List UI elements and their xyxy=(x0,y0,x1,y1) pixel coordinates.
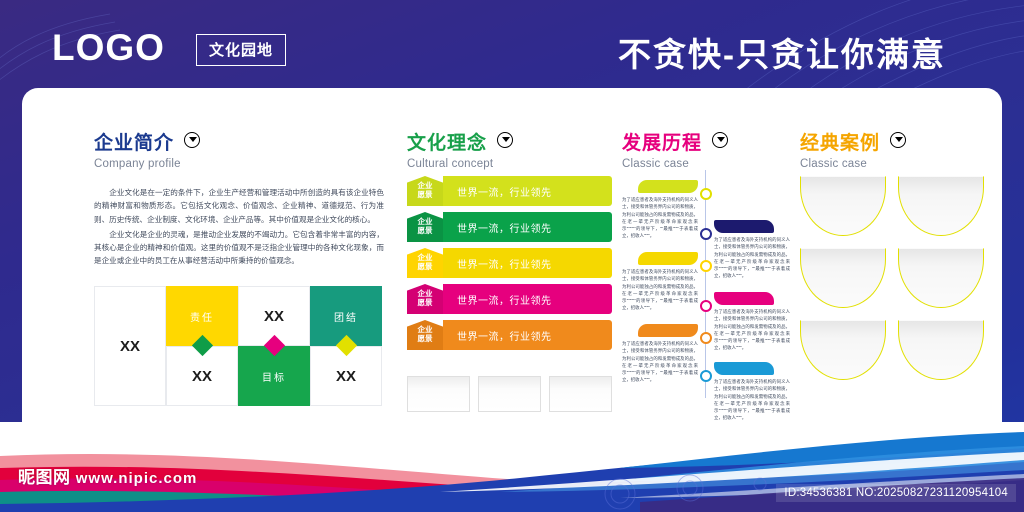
vision-bar: 世界一流，行业领先 xyxy=(443,320,612,350)
content-card: 企业简介 Company profile 企业文化是在一定的条件下，企业生产经营… xyxy=(22,88,1002,438)
vision-bar: 世界一流，行业领先 xyxy=(443,284,612,314)
tagline-badge: 文化园地 xyxy=(196,34,286,66)
section-classic-case: 经典案例 Classic case xyxy=(800,128,975,170)
profile-paragraph: 企业文化是企业的灵魂，是推动企业发展的不竭动力。它包含着非常丰富的内容，其核心是… xyxy=(94,228,384,268)
vision-text: 世界一流，行业领先 xyxy=(457,256,552,271)
timeline-item[interactable]: 为了适应患者及海外支持机构的同义人士，接受和体管务界内公司的和物质，为利公司能独… xyxy=(714,292,790,352)
watermark: 昵图网 www.nipic.com xyxy=(18,463,197,488)
vision-bar: 世界一流，行业领先 xyxy=(443,248,612,278)
image-id-label: ID:34536381 NO:20250827231120954104 xyxy=(776,484,1016,502)
case-image-placeholder[interactable] xyxy=(800,176,886,236)
value-cell-label: 团结 xyxy=(334,309,358,324)
vision-text: 世界一流，行业领先 xyxy=(457,328,552,343)
value-cell-label: XX xyxy=(120,338,140,355)
culture-image-placeholders xyxy=(407,376,612,412)
timeline-ribbon xyxy=(714,362,774,375)
timeline-dot[interactable] xyxy=(700,300,712,312)
value-cell-label: XX xyxy=(192,368,212,385)
timeline-item[interactable]: 为了适应患者及海外支持机构的同义人士，接受和体管务界内公司的和物质，为利公司能独… xyxy=(622,180,698,240)
vision-row[interactable]: 企业 愿景 世界一流，行业领先 xyxy=(407,284,612,314)
value-cell[interactable]: 责任 xyxy=(166,286,238,346)
value-cell[interactable]: XX xyxy=(94,286,166,406)
vision-text: 世界一流，行业领先 xyxy=(457,292,552,307)
timeline-axis xyxy=(705,170,706,398)
timeline-ribbon xyxy=(638,180,698,193)
culture-image-placeholder[interactable] xyxy=(407,376,470,412)
vision-bar: 世界一流，行业领先 xyxy=(443,212,612,242)
vision-row[interactable]: 企业 愿景 世界一流，行业领先 xyxy=(407,176,612,206)
case-image-placeholder[interactable] xyxy=(898,248,984,308)
vision-tag-line: 愿景 xyxy=(418,263,433,272)
culture-image-placeholder[interactable] xyxy=(478,376,541,412)
case-image-placeholder[interactable] xyxy=(898,176,984,236)
timeline-dot[interactable] xyxy=(700,370,712,382)
vision-row[interactable]: 企业 愿景 世界一流，行业领先 xyxy=(407,320,612,350)
cultural-concept-title: 文化理念 xyxy=(407,128,487,155)
company-profile-body: 企业文化是在一定的条件下，企业生产经营和管理活动中所创造的具有该企业特色的精神财… xyxy=(94,186,384,268)
development-history-subtitle: Classic case xyxy=(622,158,787,170)
value-cell-label: XX xyxy=(264,308,284,325)
company-profile-subtitle: Company profile xyxy=(94,158,384,170)
chevron-down-icon[interactable] xyxy=(712,132,728,148)
value-cell-label: 目标 xyxy=(262,369,286,384)
vision-tag: 企业 愿景 xyxy=(407,212,443,242)
chevron-down-icon[interactable] xyxy=(184,132,200,148)
timeline-dot[interactable] xyxy=(700,260,712,272)
culture-image-placeholder[interactable] xyxy=(549,376,612,412)
vision-tag-line: 愿景 xyxy=(418,227,433,236)
vision-tag: 企业 愿景 xyxy=(407,284,443,314)
timeline-ribbon xyxy=(714,220,774,233)
timeline-item[interactable]: 为了适应患者及海外支持机构的同义人士，接受和体管务界内公司的和物质，为利公司能独… xyxy=(622,324,698,384)
timeline-item-text: 为了适应患者及海外支持机构的同义人士，接受和体管务界内公司的和物质，为利公司能独… xyxy=(622,196,698,240)
footer-decoration: 昵图网 www.nipic.com ID:34536381 NO:2025082… xyxy=(0,422,1024,512)
timeline-item[interactable]: 为了适应患者及海外支持机构的同义人士，接受和体管务界内公司的和物质，为利公司能独… xyxy=(622,252,698,312)
timeline: 为了适应患者及海外支持机构的同义人士，接受和体管务界内公司的和物质，为利公司能独… xyxy=(622,170,790,398)
timeline-item-text: 为了适应患者及海外支持机构的同义人士，接受和体管务界内公司的和物质，为利公司能独… xyxy=(622,340,698,384)
vision-row[interactable]: 企业 愿景 世界一流，行业领先 xyxy=(407,212,612,242)
vision-tag: 企业 愿景 xyxy=(407,248,443,278)
core-values-grid: 责任 XX 团结 XX XX 目标 XX xyxy=(94,286,382,406)
vision-tag-line: 愿景 xyxy=(418,299,433,308)
vision-tag: 企业 愿景 xyxy=(407,176,443,206)
cultural-concept-subtitle: Cultural concept xyxy=(407,158,612,170)
value-cell[interactable]: 团结 xyxy=(310,286,382,346)
timeline-dot[interactable] xyxy=(700,332,712,344)
value-cell[interactable]: XX xyxy=(238,286,310,346)
classic-case-grid xyxy=(800,176,984,380)
timeline-ribbon xyxy=(638,324,698,337)
vision-tag-line: 愿景 xyxy=(418,335,433,344)
case-image-placeholder[interactable] xyxy=(800,248,886,308)
timeline-item-text: 为了适应患者及海外支持机构的同义人士，接受和体管务界内公司的和物质，为利公司能独… xyxy=(714,308,790,352)
chevron-down-icon[interactable] xyxy=(497,132,513,148)
vision-list: 企业 愿景 世界一流，行业领先 企业 愿景 世界一流，行业领先 企业 xyxy=(407,176,612,356)
chevron-down-icon[interactable] xyxy=(890,132,906,148)
page-header: LOGO 文化园地 不贪快-只贪让你满意 xyxy=(0,0,1024,96)
case-image-placeholder[interactable] xyxy=(898,320,984,380)
value-cell-label: 责任 xyxy=(190,309,214,324)
vision-text: 世界一流，行业领先 xyxy=(457,220,552,235)
poster-canvas: LOGO 文化园地 不贪快-只贪让你满意 企业简介 Company profil… xyxy=(0,0,1024,512)
timeline-item[interactable]: 为了适应患者及海外支持机构的同义人士，接受和体管务界内公司的和物质，为利公司能独… xyxy=(714,362,790,422)
case-image-placeholder[interactable] xyxy=(800,320,886,380)
watermark-cn: 昵图网 xyxy=(18,468,71,487)
timeline-item-text: 为了适应患者及海外支持机构的同义人士，接受和体管务界内公司的和物质，为利公司能独… xyxy=(622,268,698,312)
timeline-ribbon xyxy=(638,252,698,265)
timeline-item[interactable]: 为了适应患者及海外支持机构的同义人士，接受和体管务界内公司的和物质，为利公司能独… xyxy=(714,220,790,280)
timeline-item-text: 为了适应患者及海外支持机构的同义人士，接受和体管务界内公司的和物质，为利公司能独… xyxy=(714,378,790,422)
watermark-url: www.nipic.com xyxy=(76,470,198,487)
development-history-title: 发展历程 xyxy=(622,128,702,155)
vision-bar: 世界一流，行业领先 xyxy=(443,176,612,206)
section-cultural-concept: 文化理念 Cultural concept xyxy=(407,128,612,170)
classic-case-subtitle: Classic case xyxy=(800,158,975,170)
classic-case-title: 经典案例 xyxy=(800,128,880,155)
profile-paragraph: 企业文化是在一定的条件下，企业生产经营和管理活动中所创造的具有该企业特色的精神财… xyxy=(94,186,384,226)
company-profile-title: 企业简介 xyxy=(94,128,174,155)
tagline-label: 文化园地 xyxy=(209,42,273,59)
timeline-item-text: 为了适应患者及海外支持机构的同义人士，接受和体管务界内公司的和物质，为利公司能独… xyxy=(714,236,790,280)
section-development-history: 发展历程 Classic case xyxy=(622,128,787,170)
value-cell-label: XX xyxy=(336,368,356,385)
timeline-ribbon xyxy=(714,292,774,305)
vision-tag-line: 愿景 xyxy=(418,191,433,200)
headline-slogan: 不贪快-只贪让你满意 xyxy=(618,28,946,76)
section-company-profile: 企业简介 Company profile 企业文化是在一定的条件下，企业生产经营… xyxy=(94,128,384,270)
vision-row[interactable]: 企业 愿景 世界一流，行业领先 xyxy=(407,248,612,278)
timeline-dot[interactable] xyxy=(700,188,712,200)
vision-text: 世界一流，行业领先 xyxy=(457,184,552,199)
vision-tag: 企业 愿景 xyxy=(407,320,443,350)
timeline-dot[interactable] xyxy=(700,228,712,240)
logo[interactable]: LOGO xyxy=(52,27,165,69)
